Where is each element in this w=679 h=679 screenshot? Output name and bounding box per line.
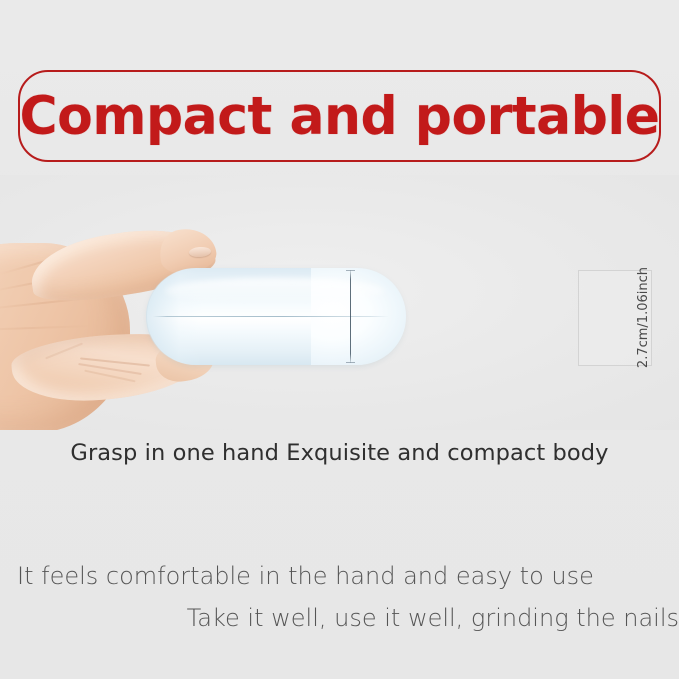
- product-caption: Grasp in one hand Exquisite and compact …: [0, 440, 679, 466]
- dimension-line-tick-top: [346, 270, 355, 271]
- headline-banner: Compact and portable: [18, 70, 661, 162]
- product-capsule-case: [147, 268, 405, 365]
- tagline-usage: Take it well, use it well, grinding the …: [0, 604, 679, 632]
- capsule-seam-line: [153, 316, 389, 317]
- product-marketing-image: Compact and portable: [0, 0, 679, 679]
- dimension-line-tick-bottom: [346, 362, 355, 363]
- headline-text: Compact and portable: [20, 90, 660, 143]
- tagline-comfort: It feels comfortable in the hand and eas…: [0, 562, 679, 590]
- capsule-dimension-line: [350, 270, 351, 363]
- measurement-callout: 2.7cm/1.06inch: [578, 270, 652, 366]
- product-photo: 2.7cm/1.06inch: [0, 175, 679, 430]
- measurement-label: 2.7cm/1.06inch: [632, 267, 651, 368]
- capsule-highlight: [165, 278, 385, 304]
